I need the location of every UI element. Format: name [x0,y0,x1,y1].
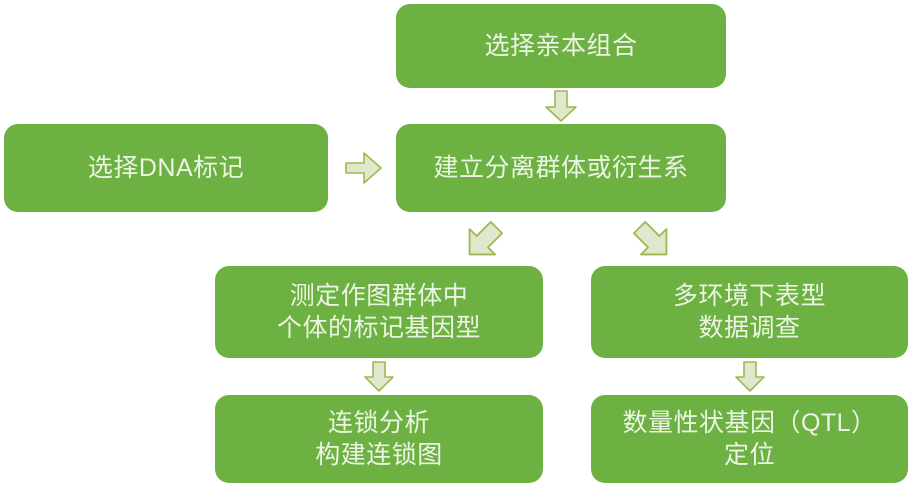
node-label-line: 数量性状基因（QTL） [601,407,898,439]
node-label-group: 选择亲本组合 [406,30,716,62]
node-label-line: 数据调查 [601,312,898,344]
node-determine-marker-genotype[interactable]: 测定作图群体中 个体的标记基因型 [215,266,543,358]
node-label-group: 连锁分析 构建连锁图 [225,407,533,471]
node-label-group: 建立分离群体或衍生系 [406,152,716,184]
arrow-down-icon [363,361,395,392]
arrow-down-icon [544,90,578,122]
node-label-line: 选择亲本组合 [406,30,716,62]
arrow-right-icon [345,151,383,185]
arrow-down-left-icon [462,220,504,262]
node-label-line: 选择DNA标记 [14,152,318,184]
node-label-line: 测定作图群体中 [225,280,533,312]
arrow-down-right-icon [632,220,674,262]
node-label-line: 构建连锁图 [225,439,533,471]
node-label-group: 数量性状基因（QTL） 定位 [601,407,898,471]
node-label-line: 连锁分析 [225,407,533,439]
node-build-segregating-population[interactable]: 建立分离群体或衍生系 [396,124,726,212]
arrow-down-icon [734,361,766,392]
node-label-line: 建立分离群体或衍生系 [406,152,716,184]
node-qtl-mapping[interactable]: 数量性状基因（QTL） 定位 [591,395,908,483]
node-label-line: 多环境下表型 [601,280,898,312]
node-select-dna-markers[interactable]: 选择DNA标记 [4,124,328,212]
node-label-group: 多环境下表型 数据调查 [601,280,898,344]
flowchart-canvas: 选择亲本组合 选择DNA标记 建立分离群体或衍生系 测定作图群体中 个体的标记基… [0,0,919,483]
node-label-line: 个体的标记基因型 [225,312,533,344]
node-select-parent-combination[interactable]: 选择亲本组合 [396,4,726,88]
node-multi-environment-phenotype[interactable]: 多环境下表型 数据调查 [591,266,908,358]
node-label-group: 选择DNA标记 [14,152,318,184]
node-label-line: 定位 [601,439,898,471]
node-label-group: 测定作图群体中 个体的标记基因型 [225,280,533,344]
node-linkage-analysis[interactable]: 连锁分析 构建连锁图 [215,395,543,483]
